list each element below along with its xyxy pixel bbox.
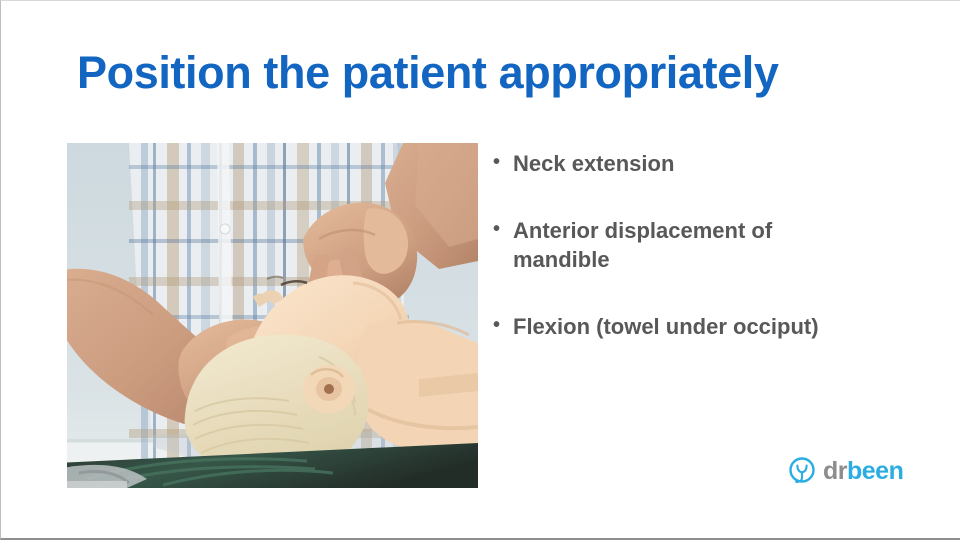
bullet-text: Neck extension	[513, 149, 843, 178]
bullet-marker-icon: •	[493, 149, 513, 175]
bullet-list: • Neck extension • Anterior displacement…	[493, 143, 913, 341]
photo-illustration	[67, 143, 478, 488]
list-item: • Anterior displacement of mandible	[493, 216, 913, 274]
brand-logo: drbeen	[787, 456, 903, 486]
bullet-text: Flexion (towel under occiput)	[513, 312, 843, 341]
slide-canvas: Position the patient appropriately	[0, 0, 960, 540]
list-item: • Neck extension	[493, 149, 913, 178]
lesson-photo	[67, 143, 478, 488]
logo-word-been: been	[847, 457, 903, 485]
bullet-marker-icon: •	[493, 312, 513, 338]
page-title: Position the patient appropriately	[77, 49, 897, 97]
bullet-text: Anterior displacement of mandible	[513, 216, 843, 274]
bullet-marker-icon: •	[493, 216, 513, 242]
logo-wordmark: drbeen	[823, 459, 903, 484]
list-item: • Flexion (towel under occiput)	[493, 312, 913, 341]
logo-word-dr: dr	[823, 457, 847, 485]
drbeen-stethoscope-circle-icon	[787, 456, 817, 486]
